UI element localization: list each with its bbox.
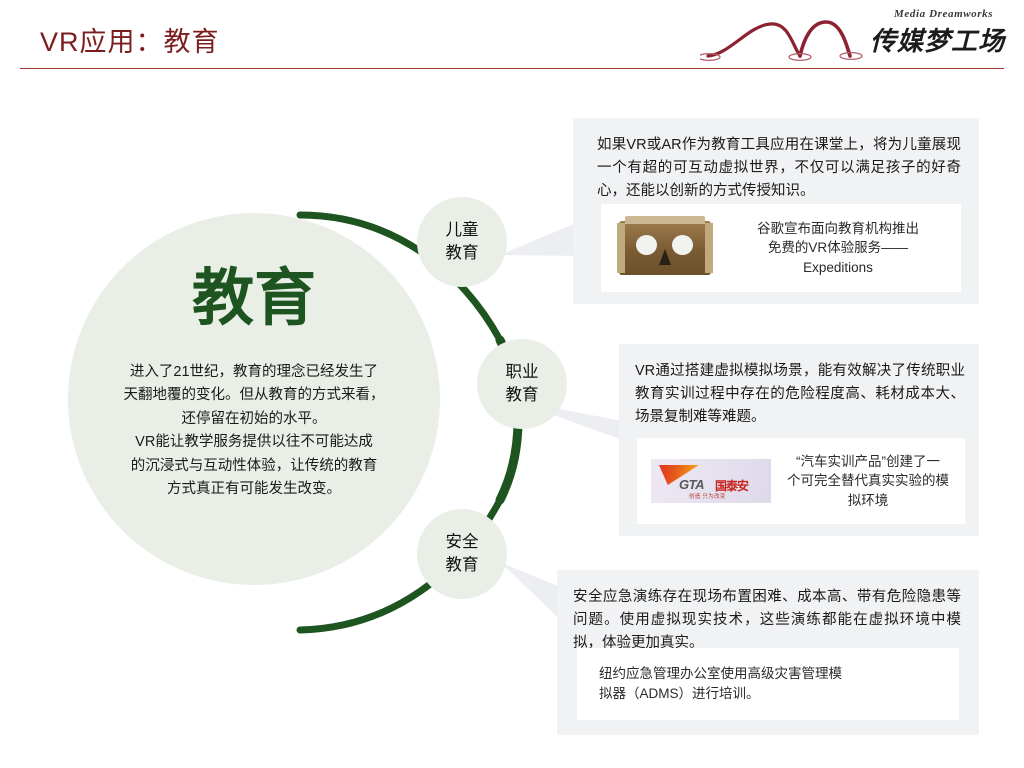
hub-description-line: 进入了21世纪，教育的理念已经发生了 — [92, 361, 416, 384]
slide-header: VR应用：教育 Media Dreamworks 传媒梦工场 — [0, 0, 1024, 70]
hub-description-line: VR能让教学服务提供以往不可能达成 — [92, 431, 416, 454]
node-children-education[interactable]: 儿童 教育 — [417, 197, 507, 287]
logo-english-name: Media Dreamworks — [894, 8, 1010, 20]
card-caption: 纽约应急管理办公室使用高级灾害管理模 拟器（ADMS）进行培训。 — [577, 664, 959, 703]
callout-body-text: 安全应急演练存在现场布置困难、成本高、带有危险隐患等问题。使用虚拟现实技术，这些… — [573, 586, 961, 655]
hub-title: 教育 — [68, 268, 440, 330]
node-label-line2: 教育 — [506, 384, 539, 407]
card-caption-line: 纽约应急管理办公室使用高级灾害管理模 — [599, 664, 953, 684]
callout-safety-education: 安全应急演练存在现场布置困难、成本高、带有危险隐患等问题。使用虚拟现实技术，这些… — [557, 570, 979, 735]
hub-description-line: 方式真正有可能发生改变。 — [92, 478, 416, 501]
card-caption-line: 免费的VR体验服务—— — [721, 238, 955, 258]
callout-body-text: 如果VR或AR作为教育工具应用在课堂上，将为儿童展现一个有超的可互动虚拟世界，不… — [597, 134, 961, 203]
callout-body-text: VR通过搭建虚拟模拟场景，能有效解决了传统职业教育实训过程中存在的危险程度高、耗… — [635, 360, 965, 429]
callout-media-card: GTA 国泰安 创造 只为改变 “汽车实训产品”创建了一 个可完全替代真实实验的… — [637, 438, 965, 524]
callout-vocational-education: VR通过搭建虚拟模拟场景，能有效解决了传统职业教育实训过程中存在的危险程度高、耗… — [619, 344, 979, 536]
gta-logo-word: GTA — [679, 477, 704, 492]
header-divider — [20, 68, 1004, 69]
callout-children-education: 如果VR或AR作为教育工具应用在课堂上，将为儿童展现一个有超的可互动虚拟世界，不… — [573, 118, 979, 304]
card-caption-line: Expeditions — [721, 258, 955, 278]
node-vocational-education[interactable]: 职业 教育 — [477, 339, 567, 429]
node-safety-education[interactable]: 安全 教育 — [417, 509, 507, 599]
pointer-wedge-0 — [500, 220, 583, 256]
node-label-line2: 教育 — [446, 242, 479, 265]
hub-description-line: 还停留在初始的水平。 — [92, 408, 416, 431]
callout-media-card: 谷歌宣布面向教育机构推出 免费的VR体验服务—— Expeditions — [601, 204, 961, 292]
card-caption: 谷歌宣布面向教育机构推出 免费的VR体验服务—— Expeditions — [715, 219, 961, 278]
card-caption-line: 个可完全替代真实实验的模 — [777, 471, 959, 491]
node-label-line2: 教育 — [446, 554, 479, 577]
card-caption-line: 拟器（ADMS）进行培训。 — [599, 684, 953, 704]
node-label-line1: 安全 — [446, 531, 479, 554]
gta-logo-slogan: 创造 只为改变 — [689, 492, 726, 500]
gta-logo-icon: GTA 国泰安 创造 只为改变 — [651, 459, 771, 503]
hub-description: 进入了21世纪，教育的理念已经发生了 天翻地覆的变化。但从教育的方式来看， 还停… — [92, 361, 416, 502]
hub-description-line: 天翻地覆的变化。但从教育的方式来看， — [92, 384, 416, 407]
node-label-line1: 职业 — [506, 361, 539, 384]
education-diagram: 教育 进入了21世纪，教育的理念已经发生了 天翻地覆的变化。但从教育的方式来看，… — [0, 70, 620, 768]
logo-text: Media Dreamworks 传媒梦工场 — [870, 8, 1010, 58]
google-cardboard-icon — [615, 215, 715, 281]
hub-circle: 教育 进入了21世纪，教育的理念已经发生了 天翻地覆的变化。但从教育的方式来看，… — [68, 213, 440, 585]
card-caption-line: “汽车实训产品”创建了一 — [777, 452, 959, 472]
card-caption: “汽车实训产品”创建了一 个可完全替代真实实验的模 拟环境 — [771, 452, 965, 511]
card-caption-line: 拟环境 — [777, 491, 959, 511]
node-label-line1: 儿童 — [446, 219, 479, 242]
callout-media-card: 纽约应急管理办公室使用高级灾害管理模 拟器（ADMS）进行培训。 — [577, 648, 959, 720]
brand-logo: Media Dreamworks 传媒梦工场 — [700, 6, 1010, 64]
logo-swoosh-icon — [700, 10, 875, 62]
card-caption-line: 谷歌宣布面向教育机构推出 — [721, 219, 955, 239]
page-title: VR应用：教育 — [40, 20, 220, 59]
hub-description-line: 的沉浸式与互动性体验，让传统的教育 — [92, 455, 416, 478]
logo-chinese-name: 传媒梦工场 — [870, 21, 1010, 58]
